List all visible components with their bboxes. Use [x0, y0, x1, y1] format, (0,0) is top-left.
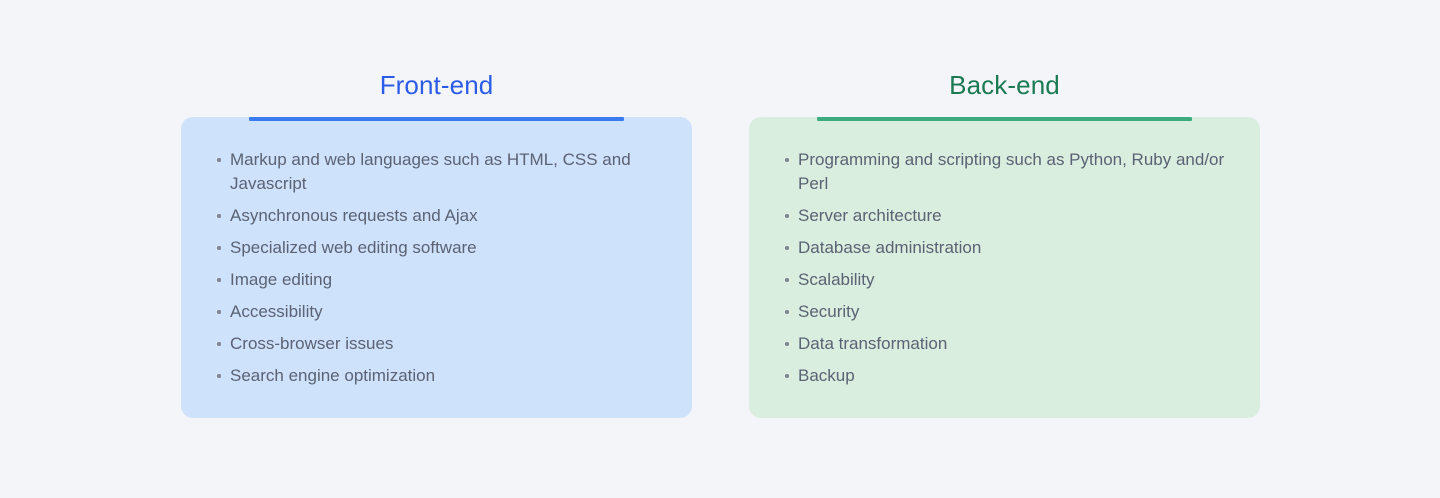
bullet-icon: [785, 278, 789, 282]
list-item-label: Asynchronous requests and Ajax: [230, 204, 657, 228]
accent-bar-back-end: [817, 117, 1192, 121]
bullet-icon: [217, 310, 221, 314]
skills-comparison-board: Front-end Markup and web languages such …: [0, 0, 1440, 498]
column-title-front-end: Front-end: [181, 68, 692, 102]
bullet-icon: [785, 214, 789, 218]
bullet-icon: [785, 246, 789, 250]
list-item-label: Scalability: [798, 268, 1225, 292]
accent-bar-front-end: [249, 117, 624, 121]
list-item: Cross-browser issues: [217, 332, 657, 356]
skill-list-front-end: Markup and web languages such as HTML, C…: [217, 148, 657, 388]
column-title-back-end: Back-end: [749, 68, 1260, 102]
list-item-label: Security: [798, 300, 1225, 324]
bullet-icon: [785, 342, 789, 346]
bullet-icon: [217, 246, 221, 250]
list-item-label: Server architecture: [798, 204, 1225, 228]
list-item-label: Data transformation: [798, 332, 1225, 356]
bullet-icon: [217, 374, 221, 378]
list-item-label: Accessibility: [230, 300, 657, 324]
list-item-label: Cross-browser issues: [230, 332, 657, 356]
list-item: Scalability: [785, 268, 1225, 292]
list-item: Server architecture: [785, 204, 1225, 228]
list-item-label: Specialized web editing software: [230, 236, 657, 260]
bullet-icon: [785, 158, 789, 162]
bullet-icon: [785, 374, 789, 378]
skill-list-back-end: Programming and scripting such as Python…: [785, 148, 1225, 388]
list-item: Database administration: [785, 236, 1225, 260]
bullet-icon: [785, 310, 789, 314]
list-item: Image editing: [217, 268, 657, 292]
list-item-label: Image editing: [230, 268, 657, 292]
list-item-label: Search engine optimization: [230, 364, 657, 388]
list-item-label: Programming and scripting such as Python…: [798, 148, 1225, 196]
bullet-icon: [217, 158, 221, 162]
bullet-icon: [217, 278, 221, 282]
list-item: Programming and scripting such as Python…: [785, 148, 1225, 196]
list-item: Asynchronous requests and Ajax: [217, 204, 657, 228]
list-item: Specialized web editing software: [217, 236, 657, 260]
list-item-label: Database administration: [798, 236, 1225, 260]
list-item: Search engine optimization: [217, 364, 657, 388]
list-item: Data transformation: [785, 332, 1225, 356]
list-item: Markup and web languages such as HTML, C…: [217, 148, 657, 196]
bullet-icon: [217, 214, 221, 218]
list-item: Backup: [785, 364, 1225, 388]
list-item: Accessibility: [217, 300, 657, 324]
bullet-icon: [217, 342, 221, 346]
list-item-label: Backup: [798, 364, 1225, 388]
list-item: Security: [785, 300, 1225, 324]
list-item-label: Markup and web languages such as HTML, C…: [230, 148, 657, 196]
